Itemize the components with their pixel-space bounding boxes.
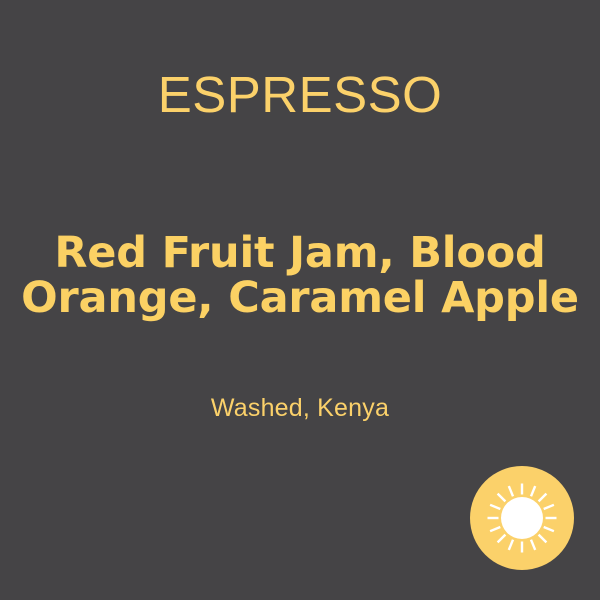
sun-core	[501, 497, 543, 539]
coffee-label-card: ESPRESSO Red Fruit Jam, Blood Orange, Ca…	[0, 0, 600, 600]
roast-category-label: ESPRESSO	[0, 66, 600, 124]
tasting-notes-line-2: Orange, Caramel Apple	[0, 276, 600, 321]
tasting-notes-headline: Red Fruit Jam, Blood Orange, Caramel App…	[0, 231, 600, 321]
sun-icon	[470, 466, 574, 570]
tasting-notes-line-1: Red Fruit Jam, Blood	[0, 231, 600, 276]
sun-badge	[470, 466, 574, 570]
process-origin-label: Washed, Kenya	[0, 392, 600, 424]
